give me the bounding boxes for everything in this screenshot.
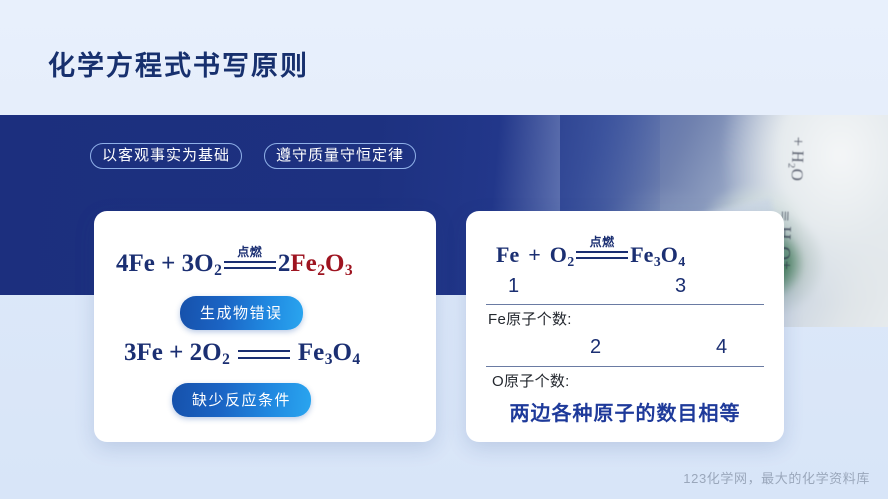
reaction-arrow-ignite-1: 点燃 (224, 252, 276, 278)
condition-label-ignite-balanced: 点燃 (590, 233, 615, 250)
balanced-equation: Fe + O2 点燃 Fe3O4 (496, 242, 685, 268)
photo-handwriting-1: + H₂O (786, 136, 808, 181)
error-tag-missing-condition[interactable]: 缺少反应条件 (172, 383, 311, 417)
conclusion-text: 两边各种原子的数目相等 (466, 397, 784, 426)
o-count-left: 2 (590, 336, 601, 359)
equation-row-1: 4Fe + 3O2 点燃 2Fe2O3 (116, 250, 353, 278)
o-atom-count-label: O原子个数: (492, 370, 570, 391)
arrow-bar-top (576, 251, 628, 253)
balanced-reactant-b: O2 (550, 242, 574, 268)
principle-pill-mass-conservation[interactable]: 遵守质量守恒定律 (264, 143, 416, 169)
arrow-bar-bottom (238, 357, 290, 359)
reaction-arrow-plain-2 (238, 341, 290, 367)
balanced-product: Fe3O4 (630, 242, 685, 268)
footer-watermark: 123化学网，最大的化学资料库 (683, 468, 870, 487)
fe-count-right: 3 (675, 275, 686, 298)
atom-balance-card: Fe + O2 点燃 Fe3O4 1 3 Fe原子个数: 2 4 O原子个数: … (466, 211, 784, 442)
reaction-arrow-ignite-balanced: 点燃 (576, 242, 628, 268)
arrow-bar-bottom (224, 267, 276, 269)
equation-2-reactants: 3Fe + 2O2 (124, 339, 230, 367)
divider-fe (486, 304, 764, 305)
divider-o (486, 366, 764, 367)
balanced-plus-sign: + (519, 242, 550, 268)
arrow-bar-top (224, 261, 276, 263)
equation-row-2: 3Fe + 2O2 Fe3O4 (124, 339, 360, 367)
slide-canvas: + H₂O ≡ H₃O⁺ + H₂ 化学方程式书写原则 以客观事实为基础 遵守质… (0, 0, 888, 499)
condition-label-ignite-1: 点燃 (237, 243, 262, 260)
equation-2-products: Fe3O4 (298, 339, 360, 367)
arrow-bar-top (238, 350, 290, 352)
fe-count-left: 1 (508, 275, 519, 298)
fe-atom-count-label: Fe原子个数: (488, 308, 572, 329)
principle-pill-objective-fact[interactable]: 以客观事实为基础 (90, 143, 242, 169)
o-count-right: 4 (716, 336, 727, 359)
equation-1-products: 2Fe2O3 (278, 250, 353, 278)
equation-1-reactants: 4Fe + 3O2 (116, 250, 222, 278)
error-tag-wrong-product[interactable]: 生成物错误 (180, 296, 303, 330)
arrow-bar-bottom (576, 257, 628, 259)
principles-group: 以客观事实为基础 遵守质量守恒定律 (90, 143, 416, 169)
wrong-examples-card: 4Fe + 3O2 点燃 2Fe2O3 生成物错误 3Fe + 2O2 Fe3O… (94, 211, 436, 442)
page-title: 化学方程式书写原则 (48, 44, 309, 83)
balanced-reactant-a: Fe (496, 242, 519, 268)
